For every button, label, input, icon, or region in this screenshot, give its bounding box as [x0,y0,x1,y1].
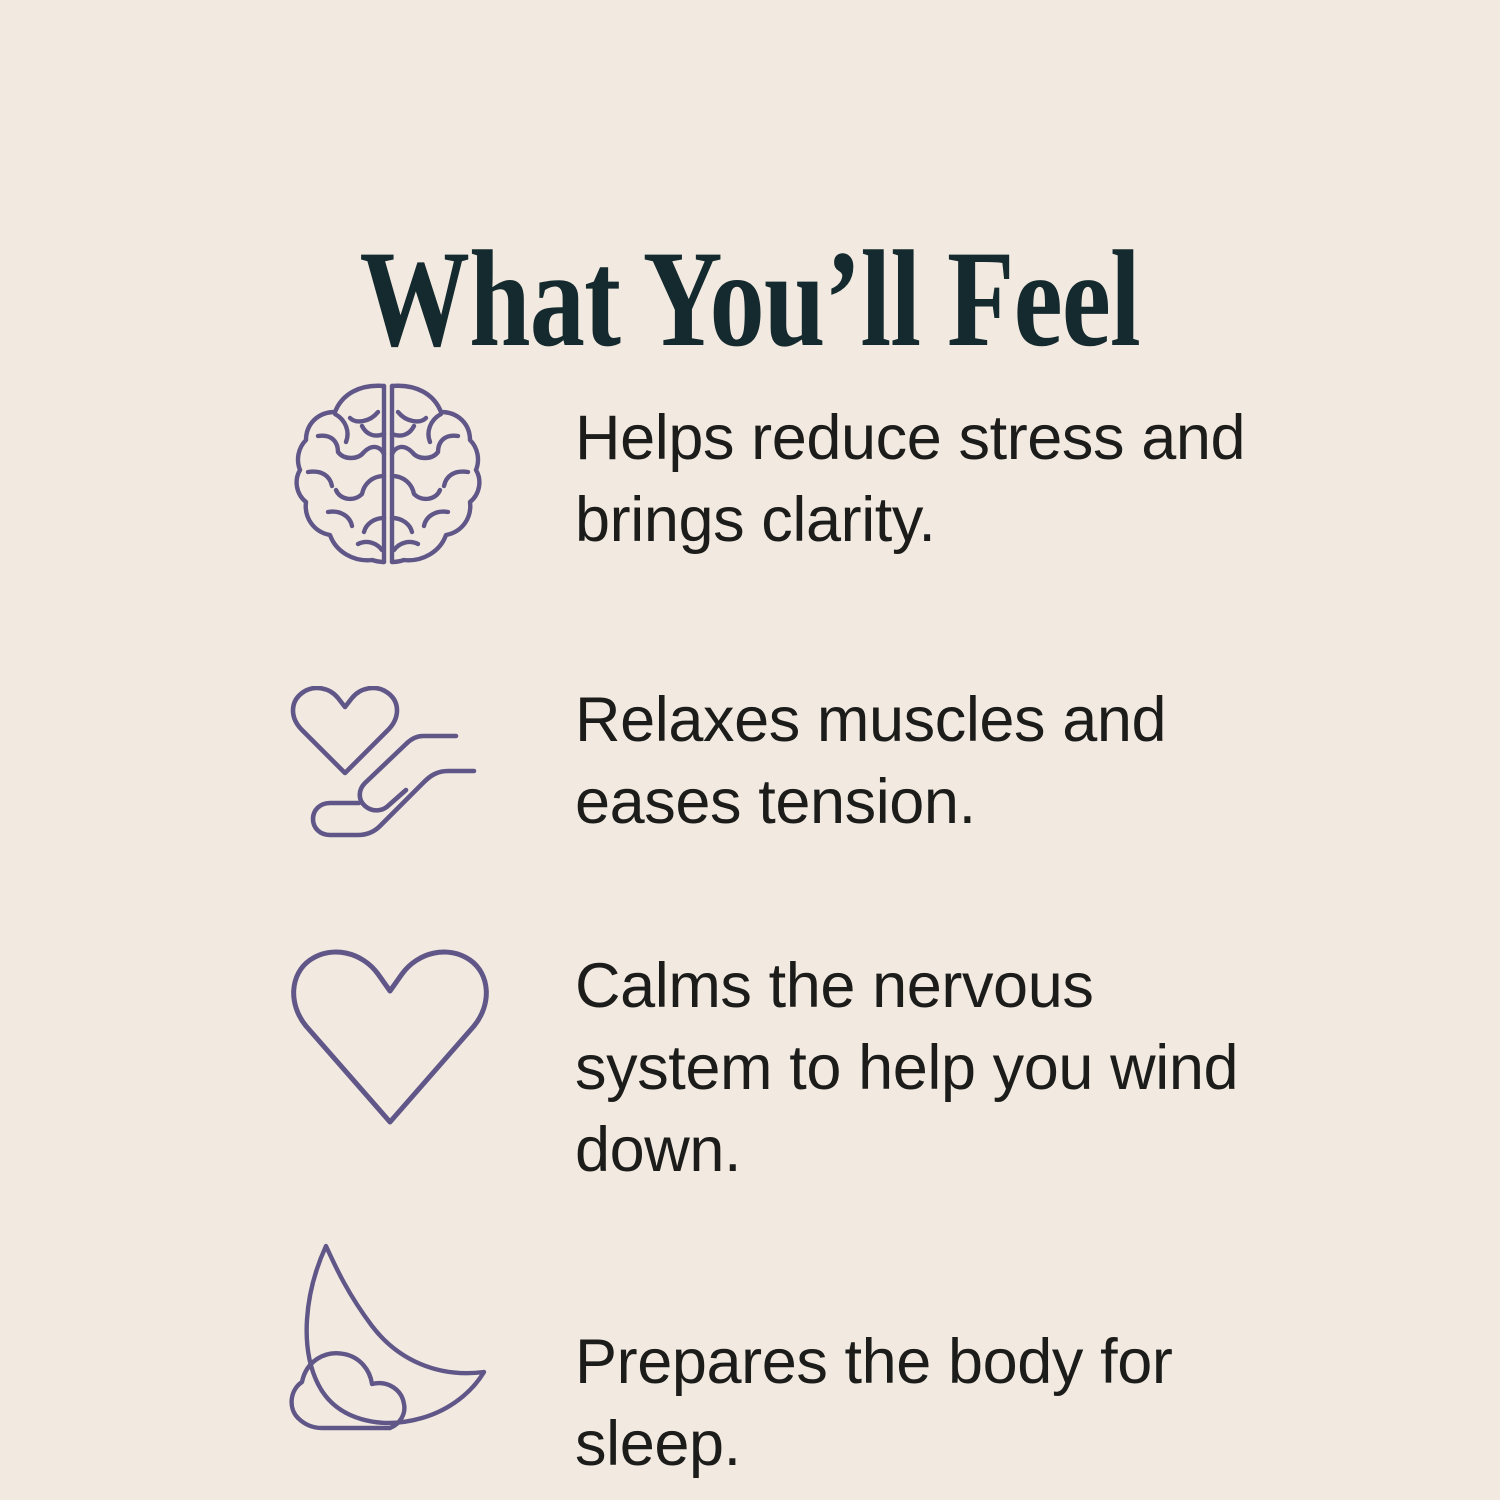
feature-icon-cell [288,928,500,1126]
feature-list: Helps reduce stress and brings clarity. [0,352,1500,1485]
feature-text: Calms the nervous system to help you win… [575,946,1275,1192]
feature-icon-cell [288,1214,500,1432]
moon-cloud-icon [288,1232,498,1432]
feature-list-graphic: What You’ll Feel [0,0,1500,1500]
feature-text-cell: Calms the nervous system to help you win… [500,928,1500,1192]
feature-text: Relaxes muscles and eases tension. [575,680,1275,844]
brain-icon [288,372,488,572]
feature-text: Helps reduce stress and brings clarity. [575,398,1275,562]
feature-item-stress: Helps reduce stress and brings clarity. [0,352,1500,572]
feature-item-calm: Calms the nervous system to help you win… [0,928,1500,1192]
feature-text-cell: Relaxes muscles and eases tension. [500,638,1500,844]
feature-icon-cell [288,638,500,856]
heart-outline-icon [288,948,492,1126]
page-title: What You’ll Feel [360,230,1140,368]
feature-text-cell: Helps reduce stress and brings clarity. [500,352,1500,562]
feature-item-sleep: Prepares the body for sleep. [0,1214,1500,1486]
feature-item-relax: Relaxes muscles and eases tension. [0,638,1500,856]
heart-in-hand-icon [288,686,488,856]
feature-text-cell: Prepares the body for sleep. [500,1214,1500,1486]
feature-icon-cell [288,352,500,572]
feature-text: Prepares the body for sleep. [575,1322,1275,1486]
